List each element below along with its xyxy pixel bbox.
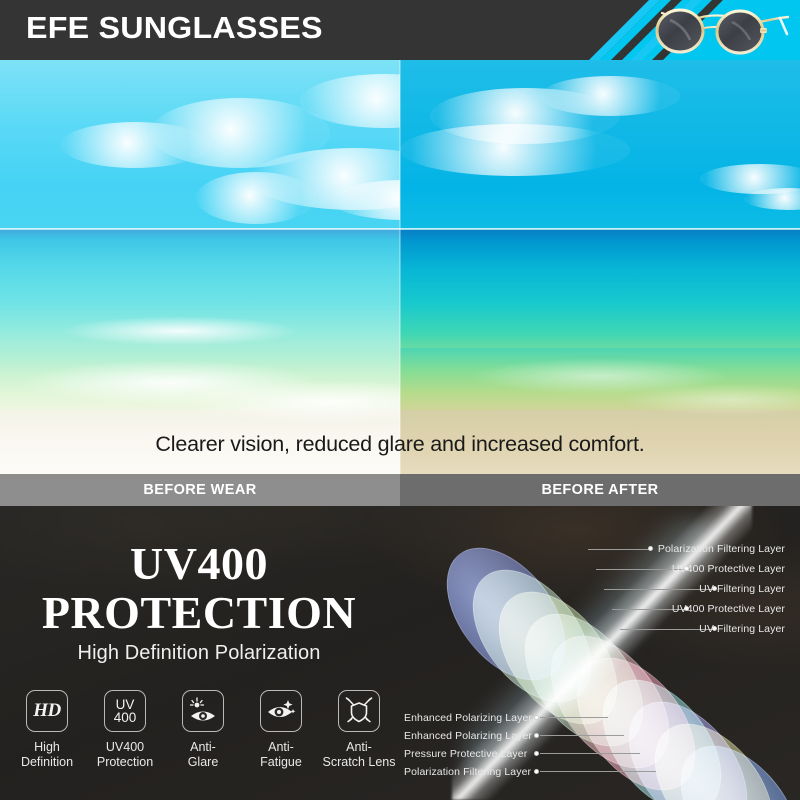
before-after-bar: BEFORE WEAR BEFORE AFTER	[0, 474, 800, 506]
feature-label: High Definition	[21, 740, 73, 771]
left-label-3: Polarization Filtering Layer	[404, 766, 531, 778]
right-label-1: UV400 Protective Layer	[672, 563, 785, 575]
callout-line	[540, 753, 640, 754]
right-label-0: Polarization Filtering Layer	[658, 543, 785, 555]
split-seam	[399, 60, 401, 474]
tagline: Clearer vision, reduced glare and increa…	[0, 432, 800, 457]
callout-line	[540, 735, 624, 736]
anti-glare-icon	[182, 690, 224, 732]
right-label-2: UV Filtering Layer	[699, 583, 785, 595]
photo-half-after	[400, 60, 800, 474]
before-after-label: BEFORE AFTER	[400, 474, 800, 506]
callout-line	[540, 771, 656, 772]
callout-line	[540, 717, 608, 718]
left-label-1: Enhanced Polarizing Layer	[404, 730, 532, 742]
beach-scene-before	[0, 60, 400, 474]
sea	[400, 230, 800, 352]
uv-title-line1: UV400	[130, 538, 268, 589]
hd-glyph: HD	[33, 700, 61, 722]
header-banner: EFE SUNGLASSES	[0, 0, 800, 60]
anti-fatigue-icon	[260, 690, 302, 732]
anti-scratch-icon	[338, 690, 380, 732]
before-wear-label: BEFORE WEAR	[0, 474, 400, 506]
photo-half-before	[0, 60, 400, 474]
feature-badge-uv400: UV400 UV400 Protection	[86, 690, 164, 790]
feature-label: Anti- Scratch Lens	[323, 740, 396, 771]
uv400-glyph: UV400	[114, 698, 137, 725]
product-infographic: EFE SUNGLASSES	[0, 0, 800, 800]
left-label-2: Pressure Protective Layer	[404, 748, 527, 760]
right-label-4: UV Filtering Layer	[699, 623, 785, 635]
callout-dot	[534, 751, 539, 756]
left-label-0: Enhanced Polarizing Layer	[404, 712, 532, 724]
sunglasses-icon	[640, 4, 792, 56]
feature-badge-row: HD High Definition UV400 UV400 Protectio…	[8, 690, 398, 790]
beach-scene-after	[400, 60, 800, 474]
callout-dot	[648, 546, 653, 551]
feature-badge-hd: HD High Definition	[8, 690, 86, 790]
uv-title-line2: PROTECTION	[42, 587, 356, 638]
brand-title: EFE SUNGLASSES	[26, 10, 323, 46]
before-after-photo	[0, 60, 800, 474]
uv-title: UV400 PROTECTION	[24, 540, 374, 638]
hd-icon: HD	[26, 690, 68, 732]
feature-label: Anti- Glare	[188, 740, 219, 771]
uv-subtitle: High Definition Polarization	[24, 642, 374, 665]
feature-label: UV400 Protection	[97, 740, 153, 771]
callout-dot	[534, 769, 539, 774]
feature-badge-anti-scratch: Anti- Scratch Lens	[320, 690, 398, 790]
feature-badge-anti-glare: Anti- Glare	[164, 690, 242, 790]
callout-dot	[534, 733, 539, 738]
callout-line	[604, 589, 714, 590]
callout-dot	[534, 715, 539, 720]
callout-line	[588, 549, 650, 550]
feature-badge-anti-fatigue: Anti- Fatigue	[242, 690, 320, 790]
feature-label: Anti- Fatigue	[260, 740, 302, 771]
right-label-3: UV400 Protective Layer	[672, 603, 785, 615]
uv400-icon: UV400	[104, 690, 146, 732]
